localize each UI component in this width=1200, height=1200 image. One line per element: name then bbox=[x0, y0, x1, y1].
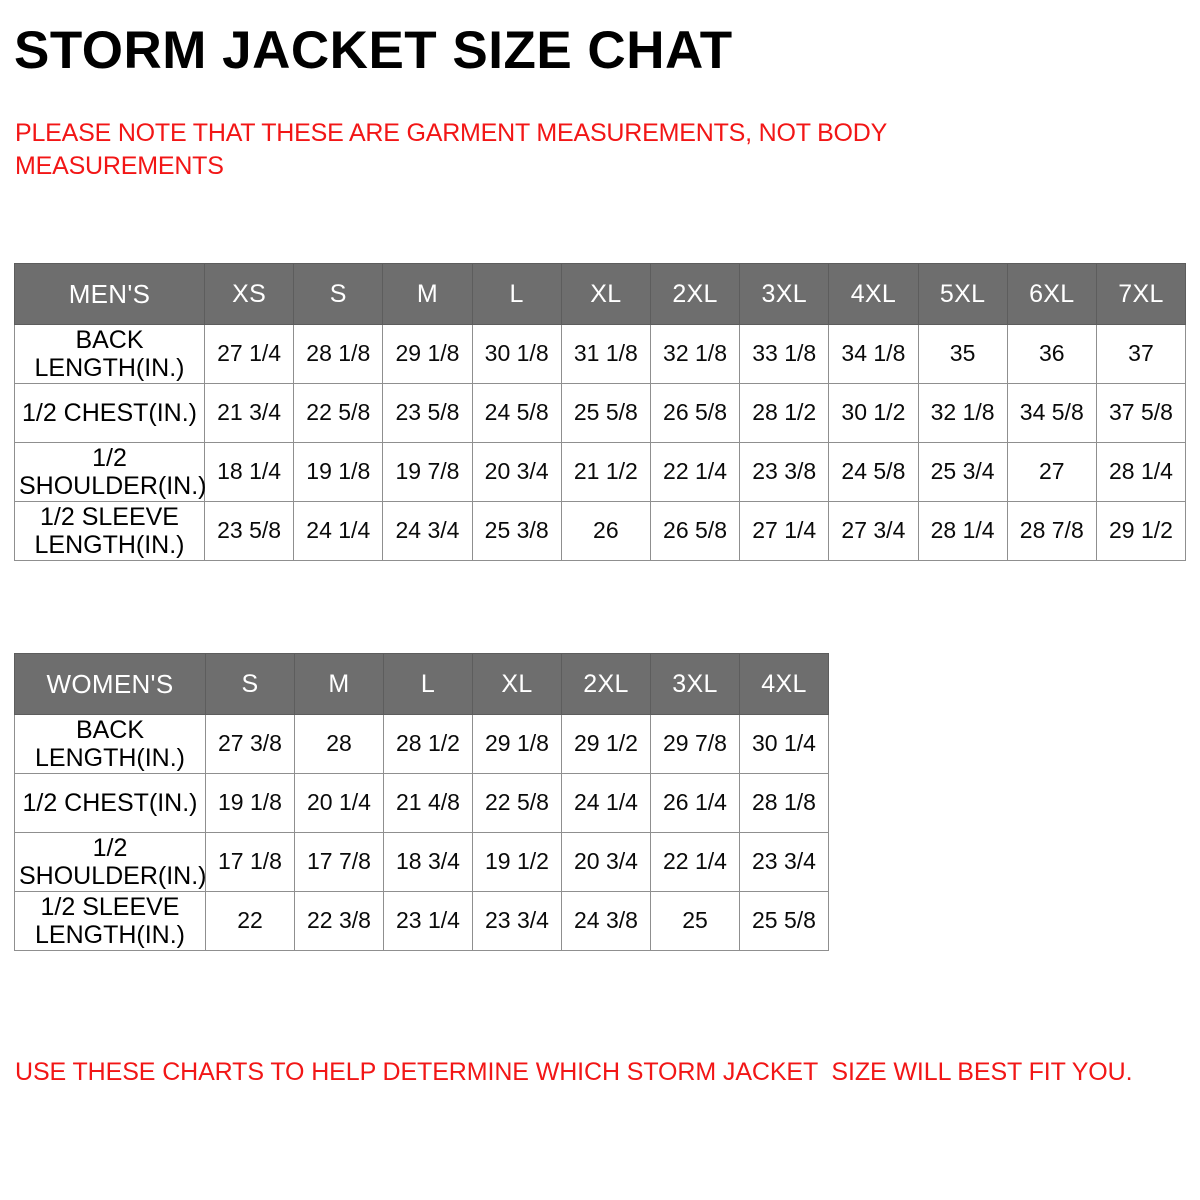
mens-size-header-xl: XL bbox=[561, 264, 650, 325]
measurement-cell: 25 5/8 bbox=[740, 892, 829, 951]
measurement-cell: 22 5/8 bbox=[294, 384, 383, 443]
measurement-cell: 22 bbox=[206, 892, 295, 951]
womens-measure-label-2: 1/2 SHOULDER(IN.) bbox=[15, 833, 206, 892]
measurement-cell: 26 5/8 bbox=[650, 384, 739, 443]
measurement-cell: 30 1/4 bbox=[740, 715, 829, 774]
measurement-cell: 32 1/8 bbox=[918, 384, 1007, 443]
womens-table-header: WOMEN'SSMLXL2XL3XL4XL bbox=[15, 654, 829, 715]
measurement-cell: 20 1/4 bbox=[295, 774, 384, 833]
measurement-cell: 28 bbox=[295, 715, 384, 774]
table-row: BACKLENGTH(IN.)27 3/82828 1/229 1/829 1/… bbox=[15, 715, 829, 774]
mens-table-body: BACKLENGTH(IN.)27 1/428 1/829 1/830 1/83… bbox=[15, 325, 1186, 561]
measurement-cell: 25 3/4 bbox=[918, 443, 1007, 502]
measurement-cell: 19 1/2 bbox=[473, 833, 562, 892]
size-chart-page: STORM JACKET SIZE CHAT PLEASE NOTE THAT … bbox=[0, 0, 1200, 1200]
measurement-cell: 24 5/8 bbox=[472, 384, 561, 443]
measurement-cell: 28 7/8 bbox=[1007, 502, 1096, 561]
measurement-cell: 32 1/8 bbox=[650, 325, 739, 384]
measurement-cell: 24 3/8 bbox=[562, 892, 651, 951]
womens-size-header-m: M bbox=[295, 654, 384, 715]
mens-size-table: MEN'SXSSMLXL2XL3XL4XL5XL6XL7XL BACKLENGT… bbox=[14, 263, 1186, 561]
measurement-cell: 27 3/8 bbox=[206, 715, 295, 774]
measurement-cell: 19 1/8 bbox=[294, 443, 383, 502]
measurement-cell: 28 1/8 bbox=[740, 774, 829, 833]
table-row: 1/2 SLEEVELENGTH(IN.)23 5/824 1/424 3/42… bbox=[15, 502, 1186, 561]
mens-measure-label-0: BACKLENGTH(IN.) bbox=[15, 325, 205, 384]
garment-measurement-notice: PLEASE NOTE THAT THESE ARE GARMENT MEASU… bbox=[15, 117, 1045, 184]
page-title: STORM JACKET SIZE CHAT bbox=[14, 24, 733, 77]
measurement-cell: 21 1/2 bbox=[561, 443, 650, 502]
measurement-cell: 29 1/8 bbox=[473, 715, 562, 774]
mens-size-header-7xl: 7XL bbox=[1096, 264, 1185, 325]
table-row: 1/2 CHEST(IN.)21 3/422 5/823 5/824 5/825… bbox=[15, 384, 1186, 443]
womens-measure-label-0: BACKLENGTH(IN.) bbox=[15, 715, 206, 774]
measurement-cell: 21 4/8 bbox=[384, 774, 473, 833]
measurement-cell: 20 3/4 bbox=[472, 443, 561, 502]
measurement-cell: 19 7/8 bbox=[383, 443, 472, 502]
table-row: 1/2 SHOULDER(IN.)17 1/817 7/818 3/419 1/… bbox=[15, 833, 829, 892]
womens-size-header-s: S bbox=[206, 654, 295, 715]
mens-measure-label-2: 1/2 SHOULDER(IN.) bbox=[15, 443, 205, 502]
mens-measure-label-3: 1/2 SLEEVELENGTH(IN.) bbox=[15, 502, 205, 561]
mens-measure-label-1: 1/2 CHEST(IN.) bbox=[15, 384, 205, 443]
measurement-cell: 26 1/4 bbox=[651, 774, 740, 833]
measurement-cell: 24 5/8 bbox=[829, 443, 918, 502]
mens-corner-header: MEN'S bbox=[15, 264, 205, 325]
measurement-cell: 25 5/8 bbox=[561, 384, 650, 443]
measurement-cell: 22 1/4 bbox=[650, 443, 739, 502]
measurement-cell: 34 1/8 bbox=[829, 325, 918, 384]
measurement-cell: 23 3/4 bbox=[473, 892, 562, 951]
measurement-cell: 23 3/4 bbox=[740, 833, 829, 892]
measurement-cell: 25 3/8 bbox=[472, 502, 561, 561]
mens-size-header-xs: XS bbox=[205, 264, 294, 325]
mens-size-header-2xl: 2XL bbox=[650, 264, 739, 325]
measurement-cell: 30 1/2 bbox=[829, 384, 918, 443]
measurement-cell: 29 1/2 bbox=[1096, 502, 1185, 561]
measurement-cell: 34 5/8 bbox=[1007, 384, 1096, 443]
mens-size-header-4xl: 4XL bbox=[829, 264, 918, 325]
womens-size-header-4xl: 4XL bbox=[740, 654, 829, 715]
measurement-cell: 27 1/4 bbox=[740, 502, 829, 561]
measurement-cell: 23 5/8 bbox=[383, 384, 472, 443]
table-row: BACKLENGTH(IN.)27 1/428 1/829 1/830 1/83… bbox=[15, 325, 1186, 384]
measurement-cell: 29 7/8 bbox=[651, 715, 740, 774]
measurement-cell: 28 1/4 bbox=[1096, 443, 1185, 502]
measurement-cell: 35 bbox=[918, 325, 1007, 384]
womens-size-header-2xl: 2XL bbox=[562, 654, 651, 715]
measurement-cell: 27 bbox=[1007, 443, 1096, 502]
mens-header-row: MEN'SXSSMLXL2XL3XL4XL5XL6XL7XL bbox=[15, 264, 1186, 325]
mens-table-header: MEN'SXSSMLXL2XL3XL4XL5XL6XL7XL bbox=[15, 264, 1186, 325]
womens-size-header-xl: XL bbox=[473, 654, 562, 715]
table-row: 1/2 SLEEVELENGTH(IN.)2222 3/823 1/423 3/… bbox=[15, 892, 829, 951]
measurement-cell: 26 bbox=[561, 502, 650, 561]
measurement-cell: 37 bbox=[1096, 325, 1185, 384]
measurement-cell: 33 1/8 bbox=[740, 325, 829, 384]
mens-size-header-3xl: 3XL bbox=[740, 264, 829, 325]
measurement-cell: 29 1/8 bbox=[383, 325, 472, 384]
measurement-cell: 23 3/8 bbox=[740, 443, 829, 502]
measurement-cell: 24 3/4 bbox=[383, 502, 472, 561]
measurement-cell: 23 1/4 bbox=[384, 892, 473, 951]
womens-measure-label-3: 1/2 SLEEVELENGTH(IN.) bbox=[15, 892, 206, 951]
measurement-cell: 23 5/8 bbox=[205, 502, 294, 561]
womens-size-header-3xl: 3XL bbox=[651, 654, 740, 715]
table-row: 1/2 CHEST(IN.)19 1/820 1/421 4/822 5/824… bbox=[15, 774, 829, 833]
measurement-cell: 24 1/4 bbox=[562, 774, 651, 833]
measurement-cell: 25 bbox=[651, 892, 740, 951]
measurement-cell: 24 1/4 bbox=[294, 502, 383, 561]
footer-guidance-note: USE THESE CHARTS TO HELP DETERMINE WHICH… bbox=[15, 1058, 1175, 1087]
measurement-cell: 22 1/4 bbox=[651, 833, 740, 892]
measurement-cell: 20 3/4 bbox=[562, 833, 651, 892]
womens-size-table: WOMEN'SSMLXL2XL3XL4XL BACKLENGTH(IN.)27 … bbox=[14, 653, 829, 951]
measurement-cell: 28 1/2 bbox=[384, 715, 473, 774]
measurement-cell: 28 1/2 bbox=[740, 384, 829, 443]
measurement-cell: 22 5/8 bbox=[473, 774, 562, 833]
mens-size-header-s: S bbox=[294, 264, 383, 325]
measurement-cell: 18 3/4 bbox=[384, 833, 473, 892]
measurement-cell: 28 1/8 bbox=[294, 325, 383, 384]
womens-measure-label-1: 1/2 CHEST(IN.) bbox=[15, 774, 206, 833]
measurement-cell: 26 5/8 bbox=[650, 502, 739, 561]
mens-size-header-l: L bbox=[472, 264, 561, 325]
measurement-cell: 17 1/8 bbox=[206, 833, 295, 892]
table-row: 1/2 SHOULDER(IN.)18 1/419 1/819 7/820 3/… bbox=[15, 443, 1186, 502]
measurement-cell: 28 1/4 bbox=[918, 502, 1007, 561]
measurement-cell: 29 1/2 bbox=[562, 715, 651, 774]
womens-header-row: WOMEN'SSMLXL2XL3XL4XL bbox=[15, 654, 829, 715]
measurement-cell: 19 1/8 bbox=[206, 774, 295, 833]
measurement-cell: 27 3/4 bbox=[829, 502, 918, 561]
mens-size-header-m: M bbox=[383, 264, 472, 325]
mens-size-header-6xl: 6XL bbox=[1007, 264, 1096, 325]
womens-table-body: BACKLENGTH(IN.)27 3/82828 1/229 1/829 1/… bbox=[15, 715, 829, 951]
measurement-cell: 18 1/4 bbox=[205, 443, 294, 502]
measurement-cell: 27 1/4 bbox=[205, 325, 294, 384]
measurement-cell: 36 bbox=[1007, 325, 1096, 384]
mens-size-header-5xl: 5XL bbox=[918, 264, 1007, 325]
measurement-cell: 17 7/8 bbox=[295, 833, 384, 892]
measurement-cell: 37 5/8 bbox=[1096, 384, 1185, 443]
measurement-cell: 30 1/8 bbox=[472, 325, 561, 384]
measurement-cell: 22 3/8 bbox=[295, 892, 384, 951]
womens-corner-header: WOMEN'S bbox=[15, 654, 206, 715]
measurement-cell: 31 1/8 bbox=[561, 325, 650, 384]
womens-size-header-l: L bbox=[384, 654, 473, 715]
measurement-cell: 21 3/4 bbox=[205, 384, 294, 443]
